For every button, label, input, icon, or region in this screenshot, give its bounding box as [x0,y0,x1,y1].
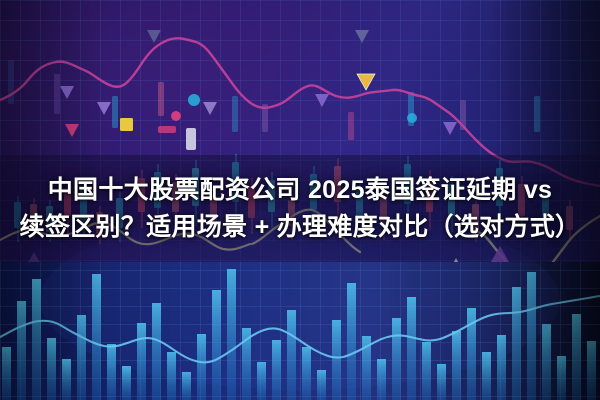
headline-line-2: 续签区别？适用场景 + 办理难度对比（选对方式） [20,210,581,245]
chart-banner: 中国十大股票配资公司 2025泰国签证延期 vs 续签区别？适用场景 + 办理难… [0,0,600,400]
headline-band: 中国十大股票配资公司 2025泰国签证延期 vs 续签区别？适用场景 + 办理难… [0,155,600,262]
headline-line-1: 中国十大股票配资公司 2025泰国签证延期 vs [48,173,553,208]
